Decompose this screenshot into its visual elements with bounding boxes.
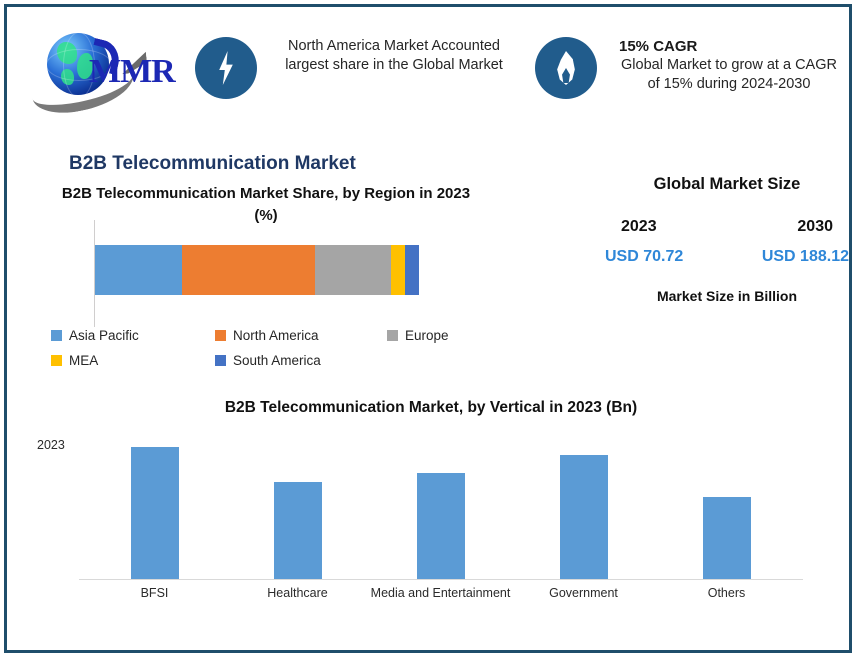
- legend-label: MEA: [69, 353, 98, 368]
- stacked-segment-asia-pacific: [95, 245, 182, 295]
- stacked-bar: [95, 245, 419, 295]
- legend-label: Europe: [405, 328, 449, 343]
- bar-slot: [83, 433, 226, 579]
- logo-text: MMR: [89, 53, 175, 91]
- axis-label-others: Others: [655, 585, 798, 601]
- stacked-segment-north-america: [182, 245, 315, 295]
- legend-label: Asia Pacific: [69, 328, 139, 343]
- bar-healthcare: [274, 482, 322, 579]
- bar-slot: [369, 433, 512, 579]
- gms-title: Global Market Size: [603, 175, 851, 194]
- gms-values-row: USD 70.72 USD 188.12: [603, 248, 851, 266]
- gms-years-row: 2023 2030: [603, 218, 851, 236]
- header-callout-cagr: 15% CAGR Global Market to grow at a CAGR…: [535, 35, 845, 99]
- gms-value-2030: USD 188.12: [762, 248, 849, 266]
- cagr-headline: 15% CAGR: [619, 37, 845, 56]
- infographic-frame: MMR North America Market Accounted large…: [4, 4, 852, 653]
- legend-item-north-america: North America: [215, 323, 383, 348]
- header-callout-text: 15% CAGR Global Market to grow at a CAGR…: [613, 35, 845, 94]
- gms-year-2030: 2030: [797, 218, 833, 236]
- chart-baseline: [79, 579, 803, 580]
- header-band: MMR North America Market Accounted large…: [7, 7, 849, 135]
- legend-item-asia-pacific: Asia Pacific: [51, 323, 211, 348]
- chart-legend: Asia Pacific North America Europe MEA So…: [51, 323, 481, 373]
- chart-title-vertical: B2B Telecommunication Market, by Vertica…: [23, 399, 839, 417]
- legend-label: North America: [233, 328, 319, 343]
- legend-item-mea: MEA: [51, 348, 211, 373]
- market-by-vertical-chart: B2B Telecommunication Market, by Vertica…: [23, 399, 839, 629]
- gms-footnote: Market Size in Billion: [603, 288, 851, 304]
- bar-slot: [655, 433, 798, 579]
- mmr-logo: MMR: [25, 25, 185, 105]
- chart-plot-area: [83, 433, 799, 579]
- header-callout-text: North America Market Accounted largest s…: [273, 35, 515, 75]
- bar-slot: [512, 433, 655, 579]
- legend-swatch-icon: [51, 330, 62, 341]
- flame-icon: [535, 37, 597, 99]
- page-title: B2B Telecommunication Market: [69, 153, 356, 175]
- bar-bfsi: [131, 447, 179, 579]
- lightning-bolt-icon: [195, 37, 257, 99]
- bar-others: [703, 497, 751, 579]
- bar-media-and-entertainment: [417, 473, 465, 579]
- market-share-chart: B2B Telecommunication Market Share, by R…: [25, 183, 485, 383]
- legend-item-europe: Europe: [387, 323, 477, 348]
- legend-item-south-america: South America: [215, 348, 383, 373]
- axis-label-government: Government: [512, 585, 655, 601]
- header-callout-north-america: North America Market Accounted largest s…: [195, 35, 515, 99]
- legend-label: South America: [233, 353, 321, 368]
- bar-slot: [226, 433, 369, 579]
- chart-title-share: B2B Telecommunication Market Share, by R…: [61, 183, 471, 227]
- header-callout-lines: North America Market Accounted largest s…: [285, 38, 503, 73]
- legend-swatch-icon: [51, 355, 62, 366]
- stacked-segment-mea: [391, 245, 405, 295]
- axis-label-healthcare: Healthcare: [226, 585, 369, 601]
- gms-year-2023: 2023: [621, 218, 657, 236]
- stacked-segment-south-america: [405, 245, 419, 295]
- bar-government: [560, 455, 608, 579]
- axis-label-media-and-entertainment: Media and Entertainment: [369, 585, 512, 601]
- legend-swatch-icon: [387, 330, 398, 341]
- stacked-segment-europe: [315, 245, 391, 295]
- header-callout-lines: Global Market to grow at a CAGR of 15% d…: [621, 57, 837, 92]
- legend-swatch-icon: [215, 330, 226, 341]
- gms-value-2023: USD 70.72: [605, 248, 683, 266]
- axis-label-bfsi: BFSI: [83, 585, 226, 601]
- legend-swatch-icon: [215, 355, 226, 366]
- global-market-size-panel: Global Market Size 2023 2030 USD 70.72 U…: [603, 175, 851, 325]
